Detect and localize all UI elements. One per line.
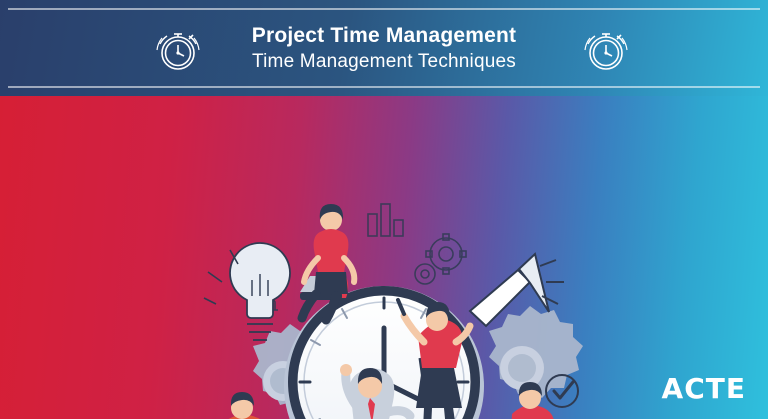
hero-illustration: ACTE <box>0 96 768 419</box>
header-frame: Project Time Management Time Management … <box>8 8 760 88</box>
time-management-illustration <box>0 96 768 419</box>
small-gears-icon <box>415 234 466 284</box>
page-subtitle: Time Management Techniques <box>252 51 516 72</box>
header-banner: Project Time Management Time Management … <box>0 0 768 96</box>
page-title: Project Time Management <box>252 24 516 48</box>
header-title-block: Project Time Management Time Management … <box>162 24 606 72</box>
screenshot-canvas: Project Time Management Time Management … <box>0 0 768 419</box>
lightbulb-icon <box>204 243 290 340</box>
acte-logo: ACTE <box>662 372 746 405</box>
bar-chart-icon <box>368 204 403 236</box>
